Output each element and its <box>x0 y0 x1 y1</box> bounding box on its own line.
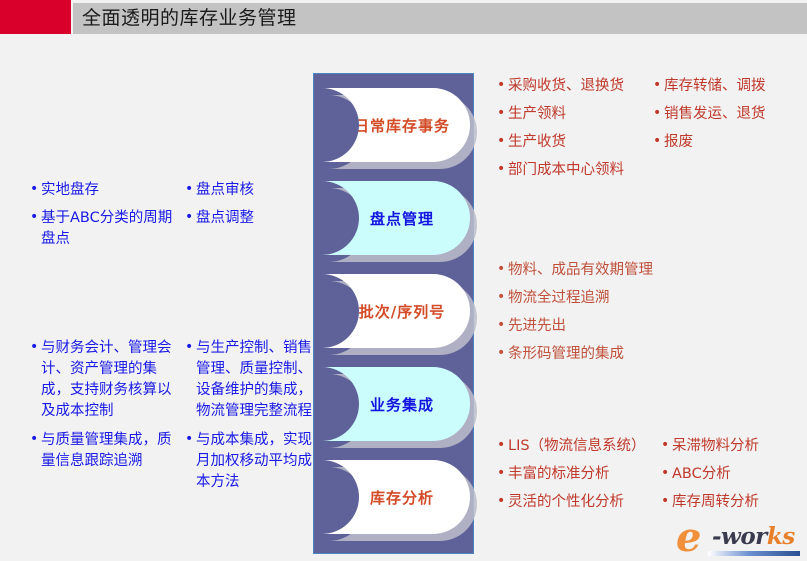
page-title: 全面透明的库存业务管理 <box>82 3 297 34</box>
list-item: 条形码管理的集成 <box>497 344 797 365</box>
pill-surface: 库存分析 <box>322 460 470 534</box>
list-item: 报废 <box>653 132 805 153</box>
pill-inventory-analysis[interactable]: 库存分析 <box>322 460 470 538</box>
list-item: 与成本集成，实现月加权移动平均成本方法 <box>185 430 315 493</box>
list-item: 采购收货、退换货 <box>497 76 652 97</box>
list-item: LIS（物流信息系统） <box>497 436 652 457</box>
bullets-inventory-count-col1: 实地盘存 基于ABC分类的周期盘点 <box>30 180 180 257</box>
bullets-inventory-analysis-col2: 呆滞物料分析 ABC分析 库存周转分析 <box>661 436 807 520</box>
eworks-word-suffix: ks <box>767 523 795 550</box>
pill-business-integration[interactable]: 业务集成 <box>322 367 470 445</box>
pill-label: 盘点管理 <box>354 208 438 229</box>
pill-label: 业务集成 <box>354 394 438 415</box>
bullets-integration-col1: 与财务会计、管理会计、资产管理的集成，支持财务核算以及成本控制 与质量管理集成，… <box>30 338 182 479</box>
list-item: 盘点调整 <box>185 208 315 229</box>
bullets-daily-transactions-col1: 采购收货、退换货 生产领料 生产收货 部门成本中心领料 <box>497 76 652 189</box>
list-item: 丰富的标准分析 <box>497 464 652 485</box>
list-item: 库存周转分析 <box>661 492 807 513</box>
list-item: 灵活的个性化分析 <box>497 492 652 513</box>
pill-label: 批次/序列号 <box>343 301 449 322</box>
pill-stocktaking[interactable]: 盘点管理 <box>322 181 470 259</box>
list-item: 与生产控制、销售管理、质量控制、设备维护的集成，物流管理完整流程 <box>185 338 315 423</box>
header-accent-block <box>0 0 71 34</box>
pill-label: 库存分析 <box>354 487 438 508</box>
list-item: 生产收货 <box>497 132 652 153</box>
list-item: ABC分析 <box>661 464 807 485</box>
list-item: 物料、成品有效期管理 <box>497 260 797 281</box>
eworks-logo: e -works <box>676 521 802 557</box>
eworks-underline-bar <box>708 551 800 556</box>
list-item: 基于ABC分类的周期盘点 <box>30 208 180 250</box>
eworks-wordmark: -works <box>712 525 795 548</box>
pill-daily-inventory[interactable]: 日常库存事务 <box>322 88 470 166</box>
list-item: 生产领料 <box>497 104 652 125</box>
pill-surface: 批次/序列号 <box>322 274 470 348</box>
pill-batch-serial[interactable]: 批次/序列号 <box>322 274 470 352</box>
list-item: 呆滞物料分析 <box>661 436 807 457</box>
list-item: 先进先出 <box>497 316 797 337</box>
pill-surface: 日常库存事务 <box>322 88 470 162</box>
list-item: 销售发运、退货 <box>653 104 805 125</box>
bullets-inventory-analysis-col1: LIS（物流信息系统） 丰富的标准分析 灵活的个性化分析 <box>497 436 652 520</box>
bullets-inventory-count-col2: 盘点审核 盘点调整 <box>185 180 315 236</box>
list-item: 部门成本中心领料 <box>497 160 652 181</box>
bullets-daily-transactions-col2: 库存转储、调拨 销售发运、退货 报废 <box>653 76 805 160</box>
list-item: 实地盘存 <box>30 180 180 201</box>
list-item: 物流全过程追溯 <box>497 288 797 309</box>
bullets-integration-col2: 与生产控制、销售管理、质量控制、设备维护的集成，物流管理完整流程 与成本集成，实… <box>185 338 315 500</box>
eworks-e-mark: e <box>676 518 701 558</box>
pill-label: 日常库存事务 <box>338 115 454 136</box>
list-item: 库存转储、调拨 <box>653 76 805 97</box>
pill-surface: 盘点管理 <box>322 181 470 255</box>
slide-canvas: 全面透明的库存业务管理 实地盘存 基于ABC分类的周期盘点 盘点审核 盘点调整 … <box>0 0 807 561</box>
list-item: 与财务会计、管理会计、资产管理的集成，支持财务核算以及成本控制 <box>30 338 182 423</box>
process-panel: 日常库存事务 盘点管理 批次/序列号 业务集成 库存分析 <box>313 73 474 554</box>
pill-surface: 业务集成 <box>322 367 470 441</box>
list-item: 与质量管理集成，质量信息跟踪追溯 <box>30 430 182 472</box>
eworks-word-prefix: -wor <box>712 523 767 550</box>
list-item: 盘点审核 <box>185 180 315 201</box>
bullets-batch-serial: 物料、成品有效期管理 物流全过程追溯 先进先出 条形码管理的集成 <box>497 260 797 373</box>
